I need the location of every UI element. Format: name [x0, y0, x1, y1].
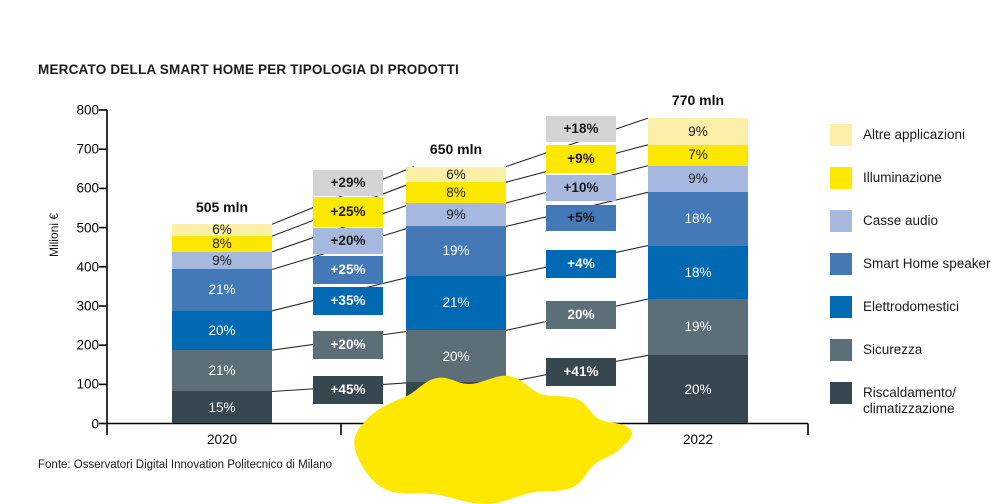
legend-swatch-icon-sicurezza [830, 339, 852, 361]
legend-swatch-icon-riscaldamento [830, 382, 852, 404]
legend-label-riscaldamento: Riscaldamento/ climatizzazione [863, 382, 956, 416]
legend-swatch-icon-casse-audio [830, 210, 852, 232]
legend-swatch-icon-elettrodomestici [830, 296, 852, 318]
bar-2021[interactable]: 6% 8% 9% 19% 21% 20% 17% [406, 167, 506, 424]
segment-sicurezza-2020[interactable]: 21% [172, 350, 272, 391]
growth-label-casse-audio-2022: +10% [546, 175, 616, 201]
segment-elettrodomestici-2021[interactable]: 21% [406, 276, 506, 331]
legend-item-casse-audio[interactable]: Casse audio [830, 210, 938, 232]
growth-label-illuminazione-2022: +9% [546, 145, 616, 173]
growth-label-sicurezza-2022: 20% [546, 301, 616, 329]
segment-smart-home-speaker-2020[interactable]: 21% [172, 269, 272, 310]
y-tick-300: 300 [33, 299, 99, 314]
growth-label-altre-applicazioni-2022: +18% [546, 116, 616, 142]
legend-swatch-icon-illuminazione [830, 167, 852, 189]
y-tick-100: 100 [33, 377, 99, 392]
y-axis-ticks: 800 700 600 500 400 300 200 100 0 [27, 0, 99, 504]
growth-label-elettrodomestici-2022: +4% [546, 250, 616, 278]
growth-label-altre-applicazioni-2021: +29% [313, 170, 383, 196]
segment-sicurezza-2022[interactable]: 19% [648, 299, 748, 355]
segment-illuminazione-2022[interactable]: 7% [648, 145, 748, 166]
x-tick-label-2021: 2021 [441, 432, 471, 447]
segment-riscaldamento-2021[interactable]: 17% [406, 382, 506, 423]
segment-smart-home-speaker-2022[interactable]: 18% [648, 192, 748, 245]
segment-illuminazione-2021[interactable]: 8% [406, 182, 506, 203]
segment-sicurezza-2021[interactable]: 20% [406, 330, 506, 382]
x-tick-label-2020: 2020 [207, 432, 237, 447]
y-tick-600: 600 [33, 181, 99, 196]
segment-elettrodomestici-2020[interactable]: 20% [172, 311, 272, 350]
y-tick-0: 0 [33, 416, 99, 431]
legend-label-elettrodomestici: Elettrodomestici [863, 296, 959, 315]
legend-label-smart-home-speaker: Smart Home speaker [863, 253, 991, 272]
legend-label-sicurezza: Sicurezza [863, 339, 922, 358]
segment-riscaldamento-2022[interactable]: 20% [648, 355, 748, 423]
legend-item-elettrodomestici[interactable]: Elettrodomestici [830, 296, 959, 318]
legend-item-smart-home-speaker[interactable]: Smart Home speaker [830, 253, 991, 275]
growth-label-smart-home-speaker-2021: +25% [313, 256, 383, 284]
growth-label-illuminazione-2021: +25% [313, 197, 383, 227]
legend-item-riscaldamento[interactable]: Riscaldamento/ climatizzazione [830, 382, 956, 416]
growth-label-smart-home-speaker-2022: +5% [546, 205, 616, 231]
segment-altre-applicazioni-2022[interactable]: 9% [648, 118, 748, 145]
legend-swatch-icon-altre-applicazioni [830, 124, 852, 146]
bar-2020[interactable]: 6% 8% 9% 21% 20% 21% 15% [172, 224, 272, 423]
y-tick-800: 800 [33, 103, 99, 118]
growth-label-sicurezza-2021: +20% [313, 331, 383, 359]
legend-swatch-icon-smart-home-speaker [830, 253, 852, 275]
y-tick-200: 200 [33, 338, 99, 353]
segment-casse-audio-2021[interactable]: 9% [406, 203, 506, 226]
segment-riscaldamento-2020[interactable]: 15% [172, 391, 272, 423]
bar-total-2022: 770 mln [672, 92, 724, 108]
bar-2022[interactable]: 9% 7% 9% 18% 18% 19% 20% [648, 118, 748, 423]
plot-area: 800 700 600 500 400 300 200 100 0 Milion… [0, 0, 1003, 504]
legend-item-sicurezza[interactable]: Sicurezza [830, 339, 922, 361]
segment-altre-applicazioni-2020[interactable]: 6% [172, 224, 272, 236]
growth-label-casse-audio-2021: +20% [313, 228, 383, 254]
y-tick-400: 400 [33, 259, 99, 274]
segment-elettrodomestici-2022[interactable]: 18% [648, 246, 748, 299]
y-axis-title: Milioni € [47, 175, 61, 295]
legend-label-illuminazione: Illuminazione [863, 167, 942, 186]
growth-label-riscaldamento-2021: +45% [313, 376, 383, 404]
legend-label-altre-applicazioni: Altre applicazioni [863, 124, 965, 143]
segment-casse-audio-2022[interactable]: 9% [648, 166, 748, 193]
bar-total-2021: 650 mln [430, 141, 482, 157]
chart-page: MERCATO DELLA SMART HOME PER TIPOLOGIA D… [0, 0, 1003, 504]
bar-total-2020: 505 mln [196, 199, 248, 215]
growth-label-elettrodomestici-2021: +35% [313, 287, 383, 315]
growth-label-riscaldamento-2022: +41% [546, 358, 616, 386]
segment-illuminazione-2020[interactable]: 8% [172, 236, 272, 252]
legend-item-illuminazione[interactable]: Illuminazione [830, 167, 942, 189]
segment-altre-applicazioni-2021[interactable]: 6% [406, 167, 506, 183]
legend-label-casse-audio: Casse audio [863, 210, 938, 229]
legend-item-altre-applicazioni[interactable]: Altre applicazioni [830, 124, 965, 146]
segment-smart-home-speaker-2021[interactable]: 19% [406, 226, 506, 275]
source-note: Fonte: Osservatori Digital Innovation Po… [38, 459, 332, 471]
y-tick-700: 700 [33, 142, 99, 157]
y-tick-500: 500 [33, 220, 99, 235]
x-tick-label-2022: 2022 [683, 432, 713, 447]
segment-casse-audio-2020[interactable]: 9% [172, 252, 272, 270]
